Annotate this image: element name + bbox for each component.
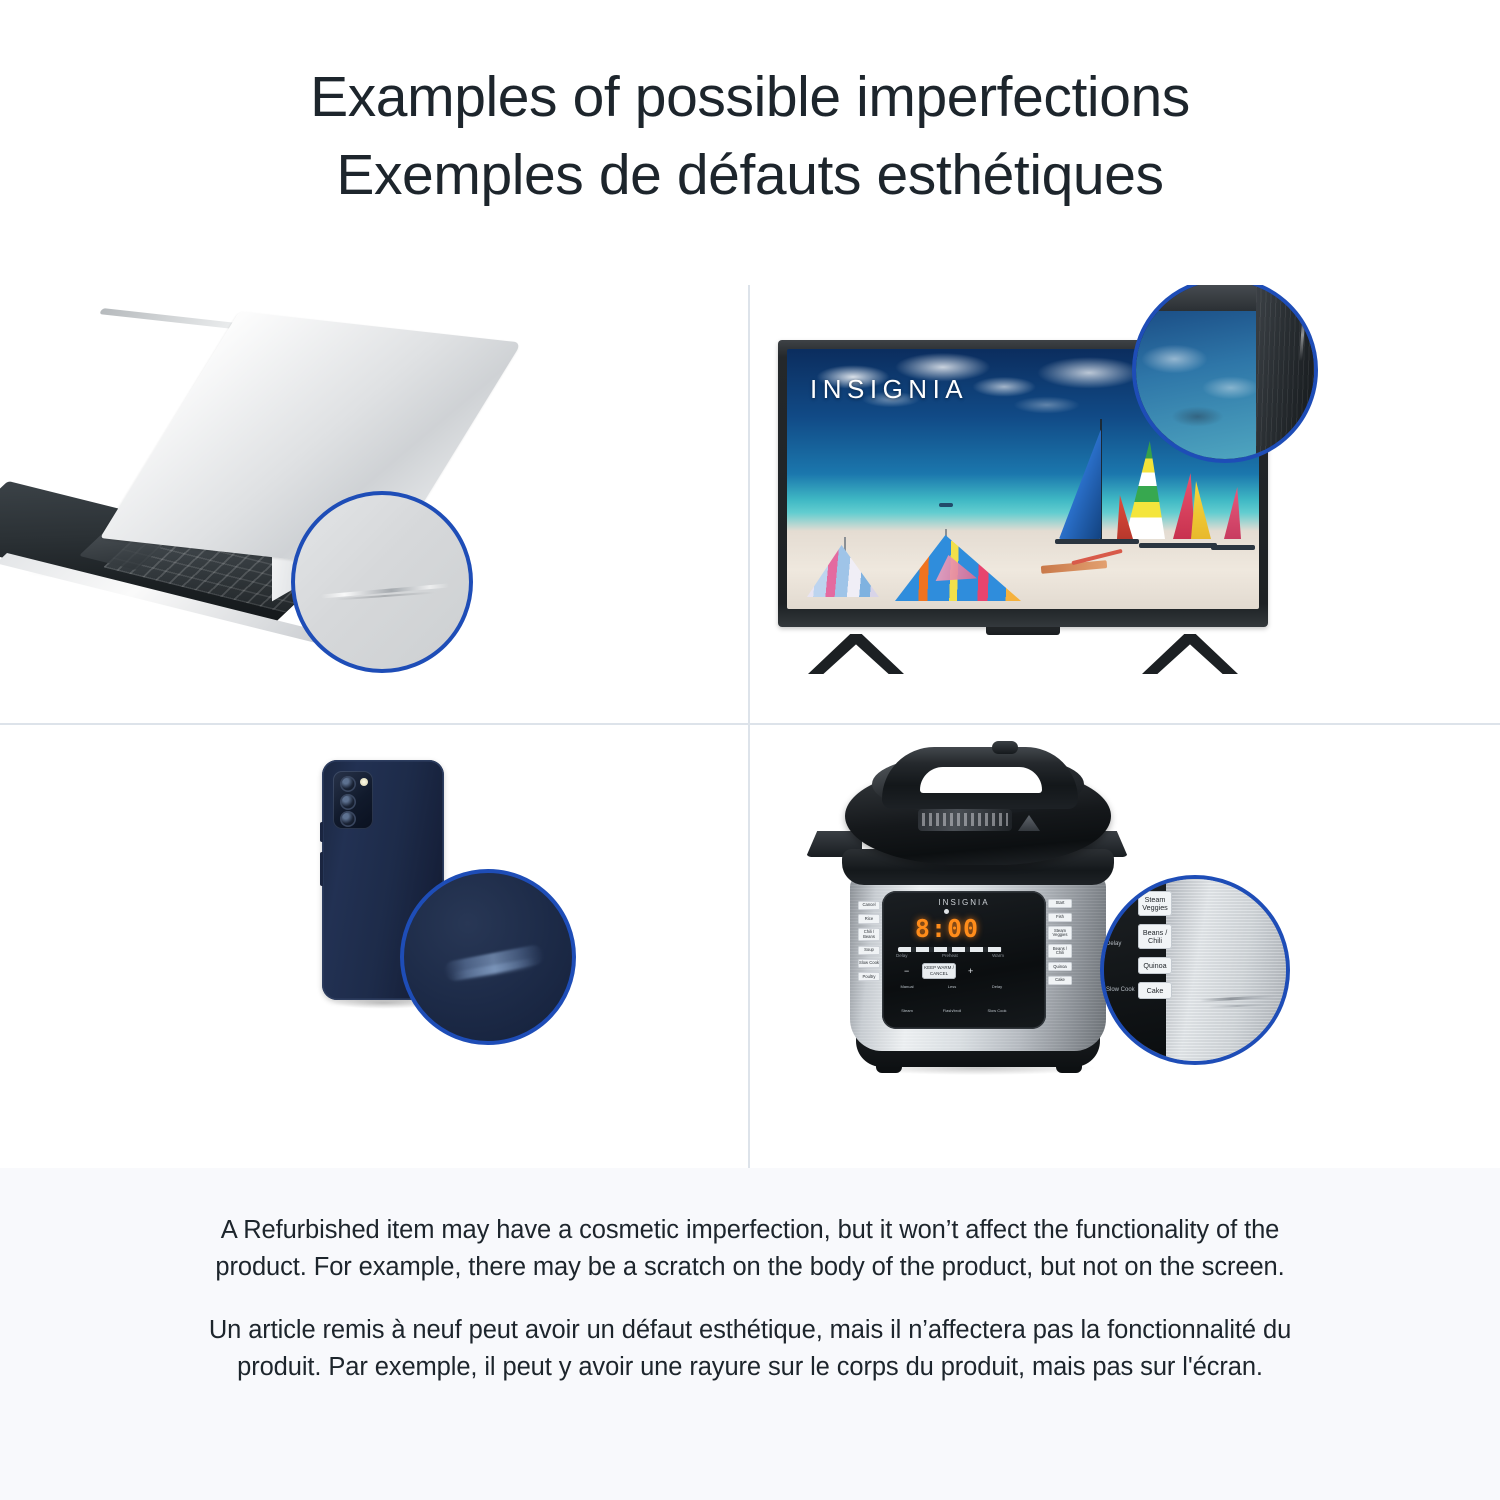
cooker-key-start[interactable]: Start <box>1048 899 1072 908</box>
screen-sail-yellow <box>1191 481 1211 539</box>
cooker-inner-label-0: Manual <box>894 985 920 990</box>
cooker-mode-labels: Delay Preheat Warm <box>896 953 1004 958</box>
zoom-cooker-key-veggies[interactable]: Steam Veggies <box>1138 891 1172 916</box>
phone-side-button-bottom <box>320 852 323 886</box>
cooker-inner-label-1: Less <box>939 985 965 990</box>
panel-television: INSIGNIA <box>750 285 1500 723</box>
cooker-mode-bar <box>898 947 1002 952</box>
cooker-key-fish[interactable]: Fish <box>1048 913 1072 922</box>
tv-stand-neck <box>986 626 1060 635</box>
cooker-mode-label-2: Warm <box>992 953 1004 958</box>
screen-hull-a <box>1055 539 1139 544</box>
cooker-inner-label2-1: Flash/broil <box>939 1009 965 1014</box>
phone-side-button-top <box>320 822 323 842</box>
title-line-english: Examples of possible imperfections <box>0 58 1500 136</box>
screen-sail-magenta <box>1224 487 1241 539</box>
screen-hull-c <box>1211 545 1255 550</box>
tv-foot-right <box>1142 634 1238 674</box>
cooker-inner-label-2: Delay <box>984 985 1010 990</box>
magnifier-circle-smartphone <box>400 869 576 1045</box>
footer-description-section: A Refurbished item may have a cosmetic i… <box>0 1168 1500 1500</box>
zoom-cooker-steel-surface <box>1166 879 1286 1061</box>
zoom-cooker-key-column: Steam Veggies Beans / Chili Quinoa Cake <box>1138 891 1172 999</box>
smartphone-illustration <box>0 725 748 1168</box>
zoom-cooker-key-cake[interactable]: Cake <box>1138 982 1172 999</box>
cooker-key-rice[interactable]: Rice <box>858 914 880 923</box>
zoom-cooker-key-beans-chili[interactable]: Beans / Chili <box>1138 924 1172 949</box>
title-line-french: Exemples de défauts esthétiques <box>0 136 1500 214</box>
page-title: Examples of possible imperfections Exemp… <box>0 58 1500 214</box>
camera-lens-2-icon <box>340 794 356 810</box>
phone-camera-module <box>333 771 373 829</box>
cooker-inner-label2-2: Slow Cook <box>984 1009 1010 1014</box>
laptop-illustration <box>0 285 748 723</box>
refurbished-imperfections-infographic: Examples of possible imperfections Exemp… <box>0 0 1500 1500</box>
product-examples-grid: INSIGNIA <box>0 285 1500 1168</box>
footer-text-container: A Refurbished item may have a cosmetic i… <box>0 1168 1500 1386</box>
panel-smartphone <box>0 725 748 1168</box>
cooker-led-display: 8:00 <box>912 915 982 941</box>
cooker-key-quinoa[interactable]: Quinoa <box>1048 962 1072 971</box>
camera-flash-icon <box>360 778 368 786</box>
cooker-handle-opening <box>920 767 1042 793</box>
cooker-left-key-column: Cancel Rice Chili / Beans Soup Slow Cook… <box>858 901 880 981</box>
zoom-screen-clouds <box>1136 311 1264 431</box>
zoom-cooker-label-slow-cook: Slow Cook <box>1106 987 1135 993</box>
cooker-key-soup[interactable]: Soup <box>858 946 880 955</box>
magnifier-circle-television <box>1132 285 1318 463</box>
panel-pressure-cooker: INSIGNIA 8:00 Delay Preheat Warm − + KEE… <box>750 725 1500 1168</box>
cooker-pressure-valve <box>992 741 1018 754</box>
cooker-lid-handle <box>882 747 1078 809</box>
camera-lens-3-icon <box>340 811 356 827</box>
footer-paragraph-french: Un article remis à neuf peut avoir un dé… <box>178 1312 1322 1386</box>
cooker-key-steam-veggies[interactable]: Steam Veggies <box>1048 926 1072 940</box>
cooker-right-key-column: Start Fish Steam Veggies Beans / Chili Q… <box>1048 899 1072 985</box>
television-illustration: INSIGNIA <box>750 285 1500 723</box>
cooker-mode-label-1: Preheat <box>942 953 958 958</box>
cooker-inner-label2-0: Steam <box>894 1009 920 1014</box>
cooker-inner-label-row-2: Steam Flash/broil Slow Cook <box>894 1009 1010 1014</box>
cooker-control-panel: INSIGNIA 8:00 Delay Preheat Warm − + KEE… <box>882 891 1046 1029</box>
cooker-plus-icon[interactable]: + <box>968 966 973 976</box>
pressure-cooker-illustration: INSIGNIA 8:00 Delay Preheat Warm − + KEE… <box>750 725 1500 1168</box>
cooker-brand-logo: INSIGNIA <box>882 898 1046 907</box>
cooker-keep-warm-cancel-button[interactable]: KEEP WARM / CANCEL <box>922 963 956 979</box>
cooker-key-slow-cook[interactable]: Slow Cook <box>858 959 880 968</box>
cooker-lid-label <box>918 809 1012 831</box>
screen-hull-b <box>1139 543 1217 548</box>
cooker-inner-label-row-1: Manual Less Delay <box>894 985 1010 990</box>
camera-lens-1-icon <box>340 776 356 792</box>
cooker-mode-label-0: Delay <box>896 953 908 958</box>
footer-paragraph-english: A Refurbished item may have a cosmetic i… <box>178 1212 1322 1286</box>
tv-brand-logo: INSIGNIA <box>810 374 968 405</box>
cooker-key-poultry[interactable]: Poultry <box>858 972 880 981</box>
cooker-key-chili-beans[interactable]: Chili / Beans <box>858 928 880 942</box>
cooker-key-beans-chili[interactable]: Beans / Chili <box>1048 944 1072 958</box>
zoom-cooker-key-quinoa[interactable]: Quinoa <box>1138 957 1172 974</box>
magnifier-circle-pressure-cooker: Steam Veggies Beans / Chili Quinoa Cake … <box>1100 875 1290 1065</box>
panel-laptop <box>0 285 748 723</box>
cooker-key-cake[interactable]: Cake <box>1048 976 1072 985</box>
tv-foot-left <box>808 634 904 674</box>
screen-beach-canopy-1 <box>807 545 879 597</box>
screen-distant-boat <box>939 503 953 507</box>
cooker-key-cancel[interactable]: Cancel <box>858 901 880 910</box>
magnifier-circle-laptop <box>291 491 473 673</box>
cooker-minus-icon[interactable]: − <box>904 966 909 976</box>
zoom-cooker-label-delay: Delay <box>1106 941 1121 947</box>
